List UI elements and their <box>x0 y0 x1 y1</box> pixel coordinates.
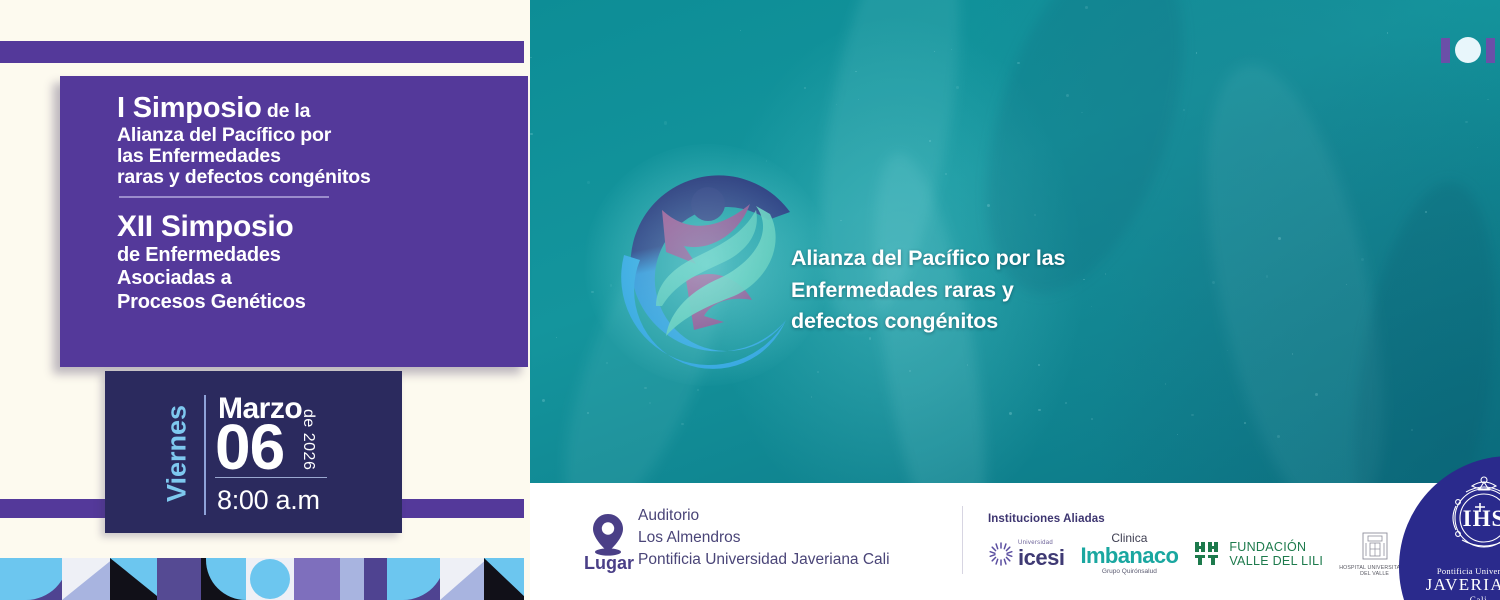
date-weekday: Viernes <box>161 388 193 518</box>
background-speck <box>840 220 841 221</box>
background-speck <box>1091 418 1093 420</box>
venue-block: Lugar Auditorio Los Almendros Pontificia… <box>578 505 890 574</box>
background-speck <box>1244 422 1246 424</box>
icesi-burst-icon <box>988 541 1014 567</box>
background-speck <box>1038 364 1040 366</box>
background-speck <box>1477 147 1478 148</box>
imbanaco-main-text: Imbanaco <box>1080 545 1178 567</box>
institutions-heading: Instituciones Aliadas <box>988 513 1457 525</box>
pattern-cell <box>0 558 62 600</box>
background-speck <box>1411 429 1413 431</box>
background-speck <box>1191 414 1193 416</box>
background-speck <box>530 57 531 58</box>
deco-rect-right-icon <box>1486 38 1495 63</box>
logo-imbanaco: Clinica Imbanaco Grupo Quirónsalud <box>1080 530 1178 578</box>
background-speck <box>1085 6 1088 9</box>
javeriana-ihs-crest-icon: IHS <box>1436 472 1500 558</box>
location-pin-icon <box>586 512 630 556</box>
lili-main-text: VALLE DEL LILI <box>1229 554 1323 568</box>
venue-label: Lugar <box>578 553 640 574</box>
title-line-1: I Simposio de la <box>117 93 518 125</box>
background-speck <box>697 389 699 391</box>
logo-icesi: Universidad icesi <box>988 530 1064 578</box>
deco-circle-icon <box>1455 37 1481 63</box>
event-logo-text: Alianza del Pacífico por las Enfermedade… <box>791 243 1101 338</box>
background-speck <box>817 371 819 373</box>
logo-text-line-3: defectos congénitos <box>791 306 1101 338</box>
background-speck <box>1066 94 1069 97</box>
background-speck <box>1183 109 1185 111</box>
background-speck <box>1065 402 1067 404</box>
background-speck <box>530 133 532 135</box>
title-symposium-twelve: XII Simposio <box>117 211 518 244</box>
venue-address: Auditorio Los Almendros Pontificia Unive… <box>638 505 890 574</box>
background-speck <box>945 173 948 176</box>
event-banner: I Simposio de la Alianza del Pacífico po… <box>0 0 1500 600</box>
logo-text-line-1: Alianza del Pacífico por las <box>791 243 1101 275</box>
background-speck <box>1465 121 1468 124</box>
background-speck <box>1278 237 1281 240</box>
alianza-pacifico-logo <box>600 160 815 370</box>
pattern-cell <box>157 558 201 600</box>
background-speck <box>587 181 590 184</box>
title2-line-4: Procesos Genéticos <box>117 291 518 314</box>
background-speck <box>542 399 545 402</box>
background-speck <box>556 337 557 338</box>
javeriana-logo-content: IHS Pontificia Universidad JAVERIANA Cal… <box>1421 472 1500 600</box>
javeriana-line-3: Cali <box>1421 595 1500 600</box>
background-speck <box>649 402 651 404</box>
pattern-cell <box>440 558 484 600</box>
pattern-cell <box>294 558 340 600</box>
background-speck <box>1177 434 1178 435</box>
background-speck <box>1487 99 1488 100</box>
event-time: 8:00 a.m <box>217 485 320 516</box>
institutions-logo-row: Universidad icesi Clinica Imbanaco Grupo… <box>988 530 1457 578</box>
fundacion-valle-lili-icon <box>1194 540 1224 568</box>
pattern-cell <box>387 558 440 600</box>
title-symposium-one-tail: de la <box>262 100 311 122</box>
venue-line-1: Auditorio <box>638 505 890 527</box>
pattern-cell <box>340 558 387 600</box>
allied-institutions-block: Instituciones Aliadas Universi <box>988 513 1457 578</box>
background-speck <box>855 71 856 72</box>
title-divider <box>119 196 329 198</box>
background-speck <box>681 423 684 426</box>
title-symposium-one: I Simposio <box>117 92 262 124</box>
corner-decoration <box>1441 36 1500 64</box>
venue-pin-wrap: Lugar <box>578 512 626 574</box>
date-horizontal-divider <box>215 477 327 478</box>
decorative-pattern-strip <box>0 558 524 600</box>
background-speck <box>1196 52 1198 54</box>
background-speck <box>987 204 990 207</box>
lili-top-text: FUNDACIÓN <box>1229 540 1323 554</box>
background-speck <box>909 370 911 372</box>
title2-line-3: Asociadas a <box>117 267 518 290</box>
symposium-title-card: I Simposio de la Alianza del Pacífico po… <box>60 76 528 367</box>
javeriana-line-2: JAVERIANA <box>1421 576 1500 595</box>
deco-rect-left-icon <box>1441 38 1450 63</box>
pattern-cell <box>110 558 157 600</box>
icesi-main-text: icesi <box>1018 547 1064 569</box>
background-speck <box>1227 350 1228 351</box>
date-year: de 2026 <box>299 409 317 470</box>
pattern-cell <box>62 558 109 600</box>
pattern-cell <box>201 558 247 600</box>
title-line-2: Alianza del Pacífico por <box>117 125 518 146</box>
huv-crest-icon <box>1359 531 1391 561</box>
venue-line-3: Pontificia Universidad Javeriana Cali <box>638 549 890 571</box>
event-date-card: Viernes Marzo 06 de 2026 8:00 a.m <box>105 371 402 533</box>
date-vertical-divider <box>204 395 206 515</box>
title-line-3: las Enfermedades <box>117 146 518 167</box>
background-speck <box>1315 393 1318 396</box>
top-purple-bar <box>0 41 524 63</box>
title2-line-2: de Enfermedades <box>117 244 518 267</box>
date-day: 06 <box>215 415 284 479</box>
footer-divider <box>962 506 963 574</box>
background-speck <box>1387 32 1388 33</box>
imbanaco-sub-text: Grupo Quirónsalud <box>1080 569 1178 576</box>
background-speck <box>1165 383 1166 384</box>
pattern-cell <box>246 558 293 600</box>
background-speck <box>811 396 813 398</box>
background-speck <box>664 121 667 124</box>
background-speck <box>804 87 806 89</box>
background-speck <box>1277 435 1280 438</box>
background-speck <box>1038 409 1040 411</box>
background-speck <box>1292 353 1294 355</box>
title-line-4: raras y defectos congénitos <box>117 167 518 188</box>
background-speck <box>1009 412 1012 415</box>
venue-line-2: Los Almendros <box>638 527 890 549</box>
logo-text-line-2: Enfermedades raras y <box>791 275 1101 307</box>
background-speck <box>1105 273 1106 274</box>
background-speck <box>1212 281 1215 284</box>
background-speck <box>740 30 741 31</box>
background-speck <box>956 86 959 89</box>
svg-text:IHS: IHS <box>1462 506 1500 531</box>
background-speck <box>587 412 589 414</box>
pattern-cell <box>484 558 524 600</box>
logo-valle-del-lili: FUNDACIÓN VALLE DEL LILI <box>1194 530 1323 578</box>
